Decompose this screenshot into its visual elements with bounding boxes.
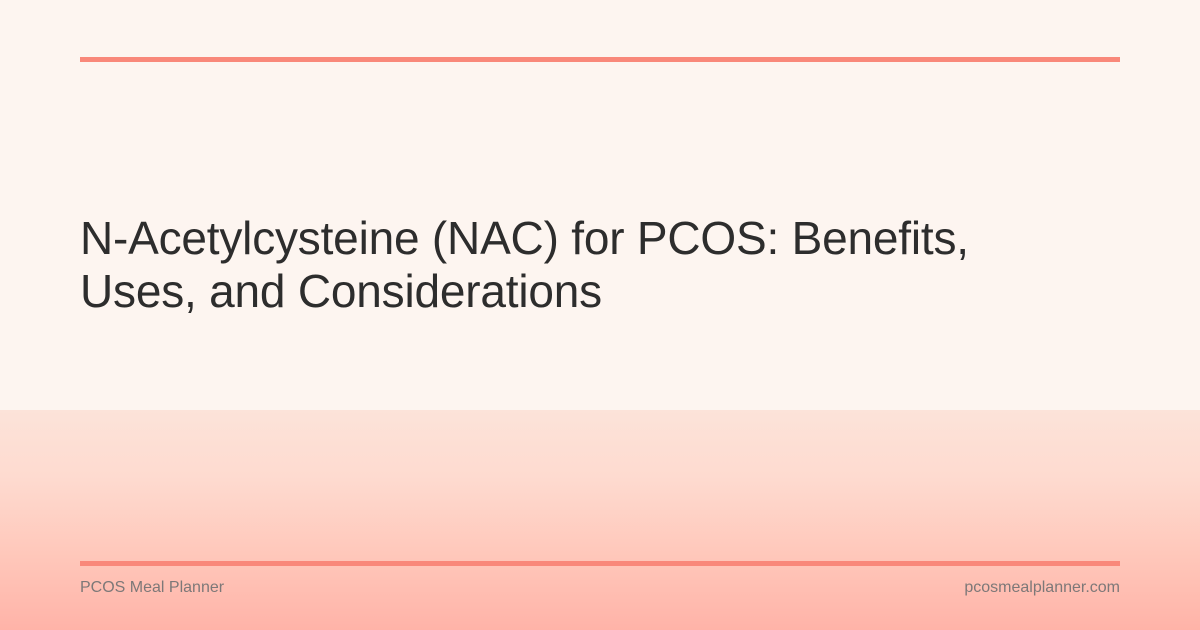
page-title: N-Acetylcysteine (NAC) for PCOS: Benefit… — [80, 212, 1080, 318]
brand-name: PCOS Meal Planner — [80, 579, 224, 597]
top-accent-rule — [80, 57, 1120, 62]
footer-row: PCOS Meal Planner pcosmealplanner.com — [80, 579, 1120, 597]
og-card: N-Acetylcysteine (NAC) for PCOS: Benefit… — [0, 0, 1200, 630]
footer: PCOS Meal Planner pcosmealplanner.com — [0, 561, 1200, 630]
site-url: pcosmealplanner.com — [964, 579, 1120, 597]
footer-divider-rule — [80, 561, 1120, 566]
